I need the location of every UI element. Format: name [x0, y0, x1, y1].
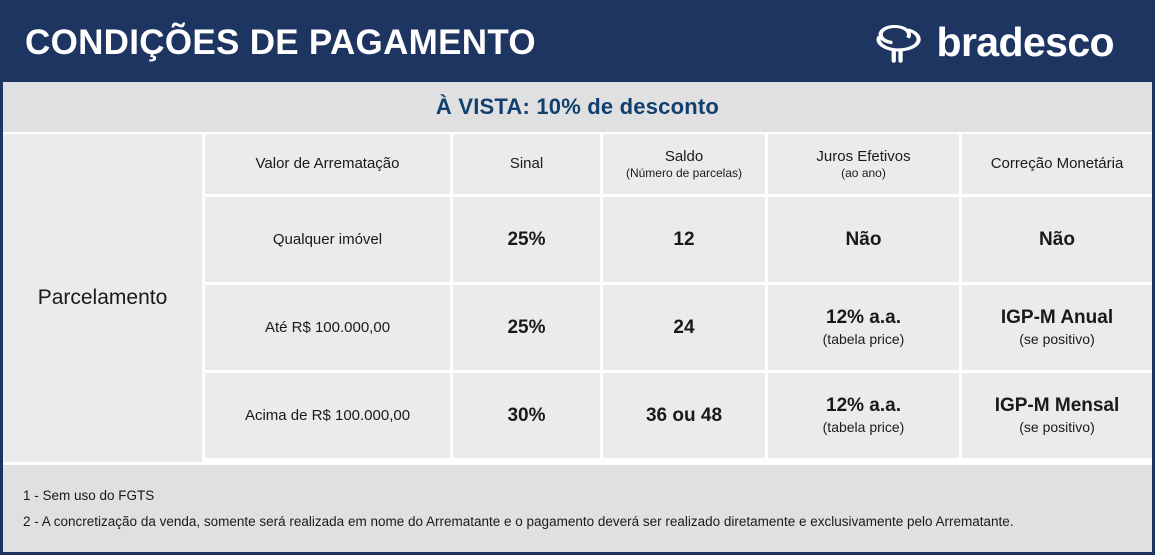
cell-saldo: 24 — [600, 285, 765, 370]
cell-correcao: Não — [959, 197, 1152, 282]
table-row: Acima de R$ 100.000,00 30% 36 ou 48 12% … — [205, 370, 1152, 458]
table-row: Até R$ 100.000,00 25% 24 12% a.a. (tabel… — [205, 282, 1152, 370]
row-group-label: Parcelamento — [38, 286, 168, 310]
column-header-correcao-main: Correção Monetária — [991, 155, 1124, 172]
column-header-juros: Juros Efetivos (ao ano) — [765, 134, 959, 194]
row-group-label-cell: Parcelamento — [3, 134, 205, 462]
column-header-sinal-main: Sinal — [510, 155, 543, 172]
column-header-juros-sub: (ao ano) — [841, 166, 886, 180]
cell-descricao-text: Qualquer imóvel — [273, 231, 382, 248]
cell-saldo-main: 24 — [673, 317, 694, 339]
cell-sinal: 25% — [450, 197, 600, 282]
cell-juros: 12% a.a. (tabela price) — [765, 285, 959, 370]
cell-juros-sub: (tabela price) — [823, 419, 905, 436]
payment-conditions-card: CONDIÇÕES DE PAGAMENTO bradesco À VISTA:… — [0, 0, 1155, 555]
column-header-saldo-main: Saldo — [665, 148, 703, 165]
cell-descricao: Qualquer imóvel — [205, 197, 450, 282]
cell-descricao: Acima de R$ 100.000,00 — [205, 373, 450, 458]
cell-sinal-main: 25% — [507, 229, 545, 251]
footer-note: 1 - Sem uso do FGTS — [23, 483, 1152, 509]
cell-correcao-main: Não — [1039, 229, 1075, 251]
cell-sinal-main: 25% — [507, 317, 545, 339]
cell-saldo-main: 36 ou 48 — [646, 405, 722, 427]
cell-descricao-text: Acima de R$ 100.000,00 — [245, 407, 410, 424]
footer-note: 2 - A concretização da venda, somente se… — [23, 509, 1152, 535]
column-header-valor: Valor de Arrematação — [205, 134, 450, 194]
bradesco-tree-icon — [872, 19, 930, 67]
cell-correcao-main: IGP-M Anual — [1001, 307, 1113, 329]
column-header-valor-main: Valor de Arrematação — [256, 155, 400, 172]
column-header-correcao: Correção Monetária — [959, 134, 1152, 194]
cell-juros-main: 12% a.a. — [826, 395, 901, 417]
cell-juros-sub: (tabela price) — [823, 331, 905, 348]
cell-saldo: 12 — [600, 197, 765, 282]
footer-notes: 1 - Sem uso do FGTS 2 - A concretização … — [3, 462, 1152, 552]
conditions-table: Parcelamento Valor de Arrematação Sinal … — [3, 134, 1152, 462]
cell-sinal: 30% — [450, 373, 600, 458]
discount-banner-text: À VISTA: 10% de desconto — [436, 94, 719, 120]
discount-banner: À VISTA: 10% de desconto — [3, 82, 1152, 134]
table-header-row: Valor de Arrematação Sinal Saldo (Número… — [205, 134, 1152, 194]
discount-suffix: de desconto — [581, 94, 719, 119]
table-row: Qualquer imóvel 25% 12 Não Não — [205, 194, 1152, 282]
cell-saldo-main: 12 — [673, 229, 694, 251]
bradesco-wordmark: bradesco — [937, 22, 1115, 63]
cell-descricao: Até R$ 100.000,00 — [205, 285, 450, 370]
cell-juros: Não — [765, 197, 959, 282]
bradesco-logo: bradesco — [872, 19, 1139, 67]
cell-correcao: IGP-M Mensal (se positivo) — [959, 373, 1152, 458]
cell-correcao-sub: (se positivo) — [1019, 419, 1094, 436]
cell-sinal-main: 30% — [507, 405, 545, 427]
table-grid: Valor de Arrematação Sinal Saldo (Número… — [205, 134, 1152, 462]
cell-saldo: 36 ou 48 — [600, 373, 765, 458]
cell-juros: 12% a.a. (tabela price) — [765, 373, 959, 458]
column-header-saldo-sub: (Número de parcelas) — [626, 166, 742, 180]
cell-correcao: IGP-M Anual (se positivo) — [959, 285, 1152, 370]
column-header-saldo: Saldo (Número de parcelas) — [600, 134, 765, 194]
cell-sinal: 25% — [450, 285, 600, 370]
cell-descricao-text: Até R$ 100.000,00 — [265, 319, 390, 336]
discount-value: 10% — [536, 94, 581, 119]
discount-prefix: À VISTA: — [436, 94, 536, 119]
page-title: CONDIÇÕES DE PAGAMENTO — [25, 25, 536, 60]
cell-correcao-sub: (se positivo) — [1019, 331, 1094, 348]
cell-juros-main: Não — [846, 229, 882, 251]
column-header-juros-main: Juros Efetivos — [816, 148, 910, 165]
column-header-sinal: Sinal — [450, 134, 600, 194]
cell-correcao-main: IGP-M Mensal — [995, 395, 1120, 417]
cell-juros-main: 12% a.a. — [826, 307, 901, 329]
header-bar: CONDIÇÕES DE PAGAMENTO bradesco — [3, 3, 1152, 82]
